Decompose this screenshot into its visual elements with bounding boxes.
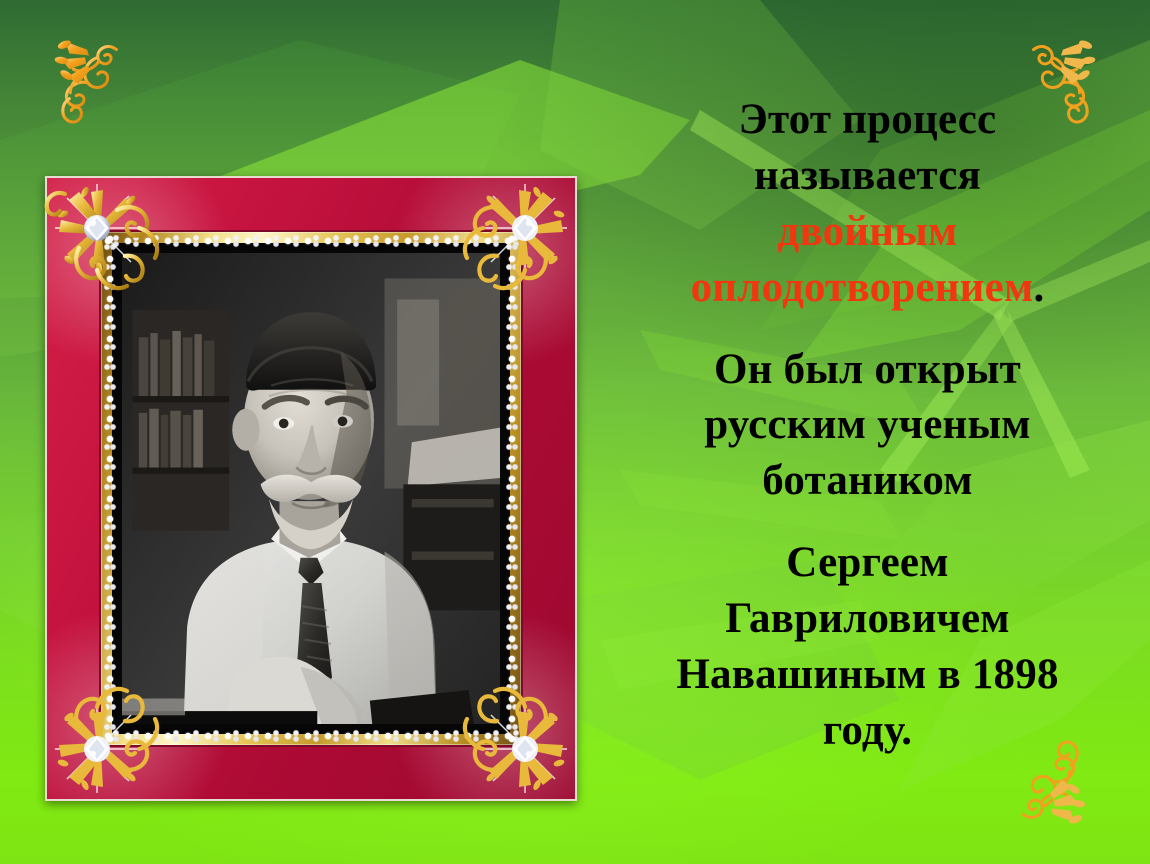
frame-black-mount [112, 243, 510, 734]
frame-gold-band [101, 232, 521, 745]
paragraph-scientist-name: Сергеем Гавриловичем Навашиным в 1898 го… [595, 535, 1140, 759]
portrait-frame [45, 176, 577, 801]
navashin-portrait-photo [122, 253, 500, 724]
paragraph3-line2: Гавриловичем [595, 591, 1140, 647]
paragraph-definition: Этот процесс называется двойным оплодотв… [595, 92, 1140, 316]
paragraph3-line4: году. [595, 703, 1140, 759]
paragraph2-line2: русским ученым [595, 397, 1140, 453]
slide-canvas: Этот процесс называется двойным оплодотв… [0, 0, 1150, 864]
paragraph2-line3: ботаником [595, 453, 1140, 509]
slide-text-column: Этот процесс называется двойным оплодотв… [595, 92, 1140, 759]
paragraph-discovery: Он был открыт русским ученым ботаником [595, 342, 1140, 510]
paragraph1-highlight-line: оплодотворением. [595, 260, 1140, 316]
corner-flourish-top-left-icon [30, 28, 148, 132]
paragraph3-line3: Навашиным в 1898 [595, 647, 1140, 703]
paragraph2-line1: Он был открыт [595, 342, 1140, 398]
paragraph1-line2: называется [595, 148, 1140, 204]
paragraph1-highlight-oplodotvoreniem: оплодотворением [691, 264, 1034, 311]
paragraph1-highlight-dvoynym: двойным [595, 204, 1140, 260]
paragraph1-period: . [1033, 264, 1044, 311]
paragraph1-line1: Этот процесс [595, 92, 1140, 148]
paragraph3-line1: Сергеем [595, 535, 1140, 591]
